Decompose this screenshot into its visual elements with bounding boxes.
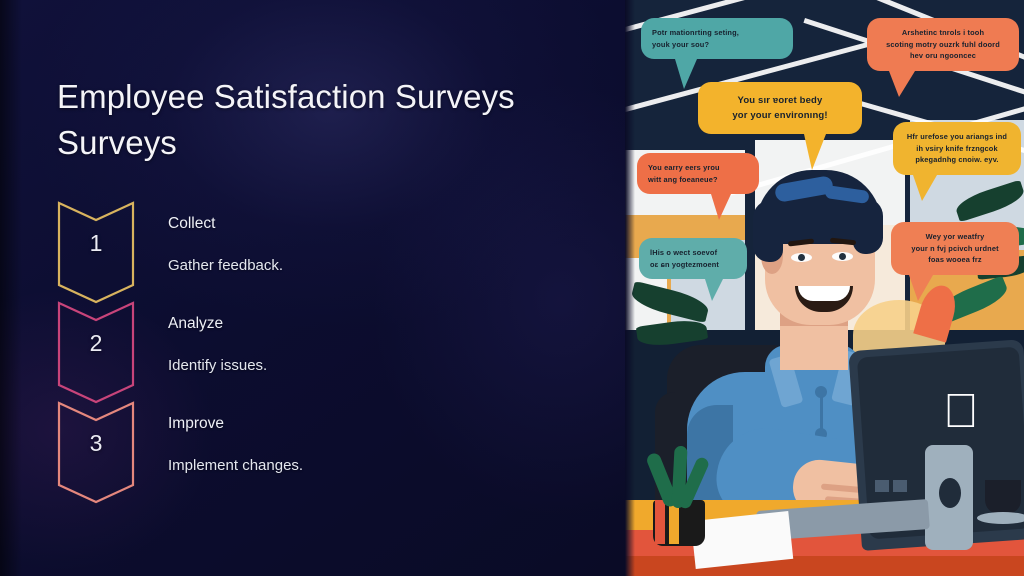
steps-list: 1 Collect Gather feedback. 2 Analyze Id xyxy=(57,200,577,500)
step-number: 2 xyxy=(57,330,135,357)
step-chevron-1: 1 xyxy=(57,200,135,305)
bubble-line: lHis o wect soevof xyxy=(650,247,736,259)
desk-front xyxy=(625,556,1024,576)
person-hair-side xyxy=(753,200,783,262)
speech-bubble: You sır ɐoret bedy yor your environıng! xyxy=(698,82,862,134)
bubble-tail xyxy=(705,279,723,301)
bubble-tail xyxy=(804,134,826,170)
step-description: Implement changes. xyxy=(168,456,548,476)
step-description: Gather feedback. xyxy=(168,256,548,276)
speech-bubble: You earry eers yrou witt ang foeaneue? xyxy=(637,153,759,194)
person-teeth xyxy=(798,286,850,301)
bubble-line: hev oru ngooncec xyxy=(878,50,1008,62)
step-text-block: Improve Implement changes. xyxy=(168,414,548,476)
speech-bubble: Potr mationrting seting, youk your sou? xyxy=(641,18,793,59)
bubble-line: Arshetinc tnrols i tooh xyxy=(878,27,1008,39)
list-item: 2 Analyze Identify issues. xyxy=(57,300,577,400)
bubble-line: youk your sou? xyxy=(652,39,782,51)
person-pupil xyxy=(798,254,805,261)
speech-bubble: Arshetinc tnrols i tooh scoting motry ou… xyxy=(867,18,1019,71)
panel-seam xyxy=(625,0,635,576)
bubble-tail xyxy=(913,175,937,201)
speech-bubble: Hfr urefose you ariangs ind ih vsiry kni… xyxy=(893,122,1021,175)
apple-logo-icon:  xyxy=(943,388,979,436)
bubble-line: Hfr urefose you ariangs ind xyxy=(904,131,1010,143)
step-title: Collect xyxy=(168,214,548,234)
coffee-cup xyxy=(985,480,1021,514)
step-description: Identify issues. xyxy=(168,356,548,376)
bubble-line: oɛ ɕn yogtezmoent xyxy=(650,259,736,271)
cup-saucer xyxy=(977,512,1024,524)
shirt-button xyxy=(815,386,827,398)
person-hair-side xyxy=(853,198,883,254)
page-title: Employee Satisfaction Surveys Surveys xyxy=(57,74,597,166)
bubble-line: ih vsiry knife frzngcok xyxy=(904,143,1010,155)
person-pupil xyxy=(839,253,846,260)
speech-bubble: lHis o wect soevof oɛ ɕn yogtezmoent xyxy=(639,238,747,279)
step-chevron-2: 2 xyxy=(57,300,135,405)
bubble-line: Potr mationrting seting, xyxy=(652,27,782,39)
paper-document xyxy=(691,511,793,569)
presentation-slide: Employee Satisfaction Surveys Surveys 1 … xyxy=(0,0,1024,576)
step-title: Improve xyxy=(168,414,548,434)
step-title: Analyze xyxy=(168,314,548,334)
step-text-block: Collect Gather feedback. xyxy=(168,214,548,276)
left-content-panel: Employee Satisfaction Surveys Surveys 1 … xyxy=(0,0,628,576)
step-text-block: Analyze Identify issues. xyxy=(168,314,548,376)
bubble-line: your n fvj pcivch urdnet xyxy=(902,243,1008,255)
bubble-tail xyxy=(711,194,731,220)
illustration-image:  Potr mationrting seting, youk your sou… xyxy=(625,0,1024,576)
bubble-line: witt ang foeaneue? xyxy=(648,174,748,186)
pot-stripe xyxy=(655,500,665,544)
stand-cutout xyxy=(939,478,961,508)
step-number: 1 xyxy=(57,230,135,257)
bubble-line: You sır ɐoret bedy xyxy=(710,93,850,108)
bubble-line: foas wooea frz xyxy=(902,254,1008,266)
bubble-line: pkegadnhg cnoiw. eyv. xyxy=(904,154,1010,166)
bubble-line: You earry eers yrou xyxy=(648,162,748,174)
bubble-line: scoting motry ouzrk fuhl doord xyxy=(878,39,1008,51)
panel-edge-shadow xyxy=(0,0,22,576)
bubble-tail xyxy=(675,59,697,89)
bubble-tail xyxy=(889,71,915,97)
monitor-port xyxy=(893,480,907,492)
monitor-port xyxy=(875,480,889,492)
list-item: 3 Improve Implement changes. xyxy=(57,400,577,500)
list-item: 1 Collect Gather feedback. xyxy=(57,200,577,300)
bubble-line: Wey yor weatfry xyxy=(902,231,1008,243)
bubble-tail xyxy=(909,275,933,301)
bubble-line: yor your environıng! xyxy=(710,108,850,123)
step-number: 3 xyxy=(57,430,135,457)
step-chevron-3: 3 xyxy=(57,400,135,505)
speech-bubble: Wey yor weatfry your n fvj pcivch urdnet… xyxy=(891,222,1019,275)
